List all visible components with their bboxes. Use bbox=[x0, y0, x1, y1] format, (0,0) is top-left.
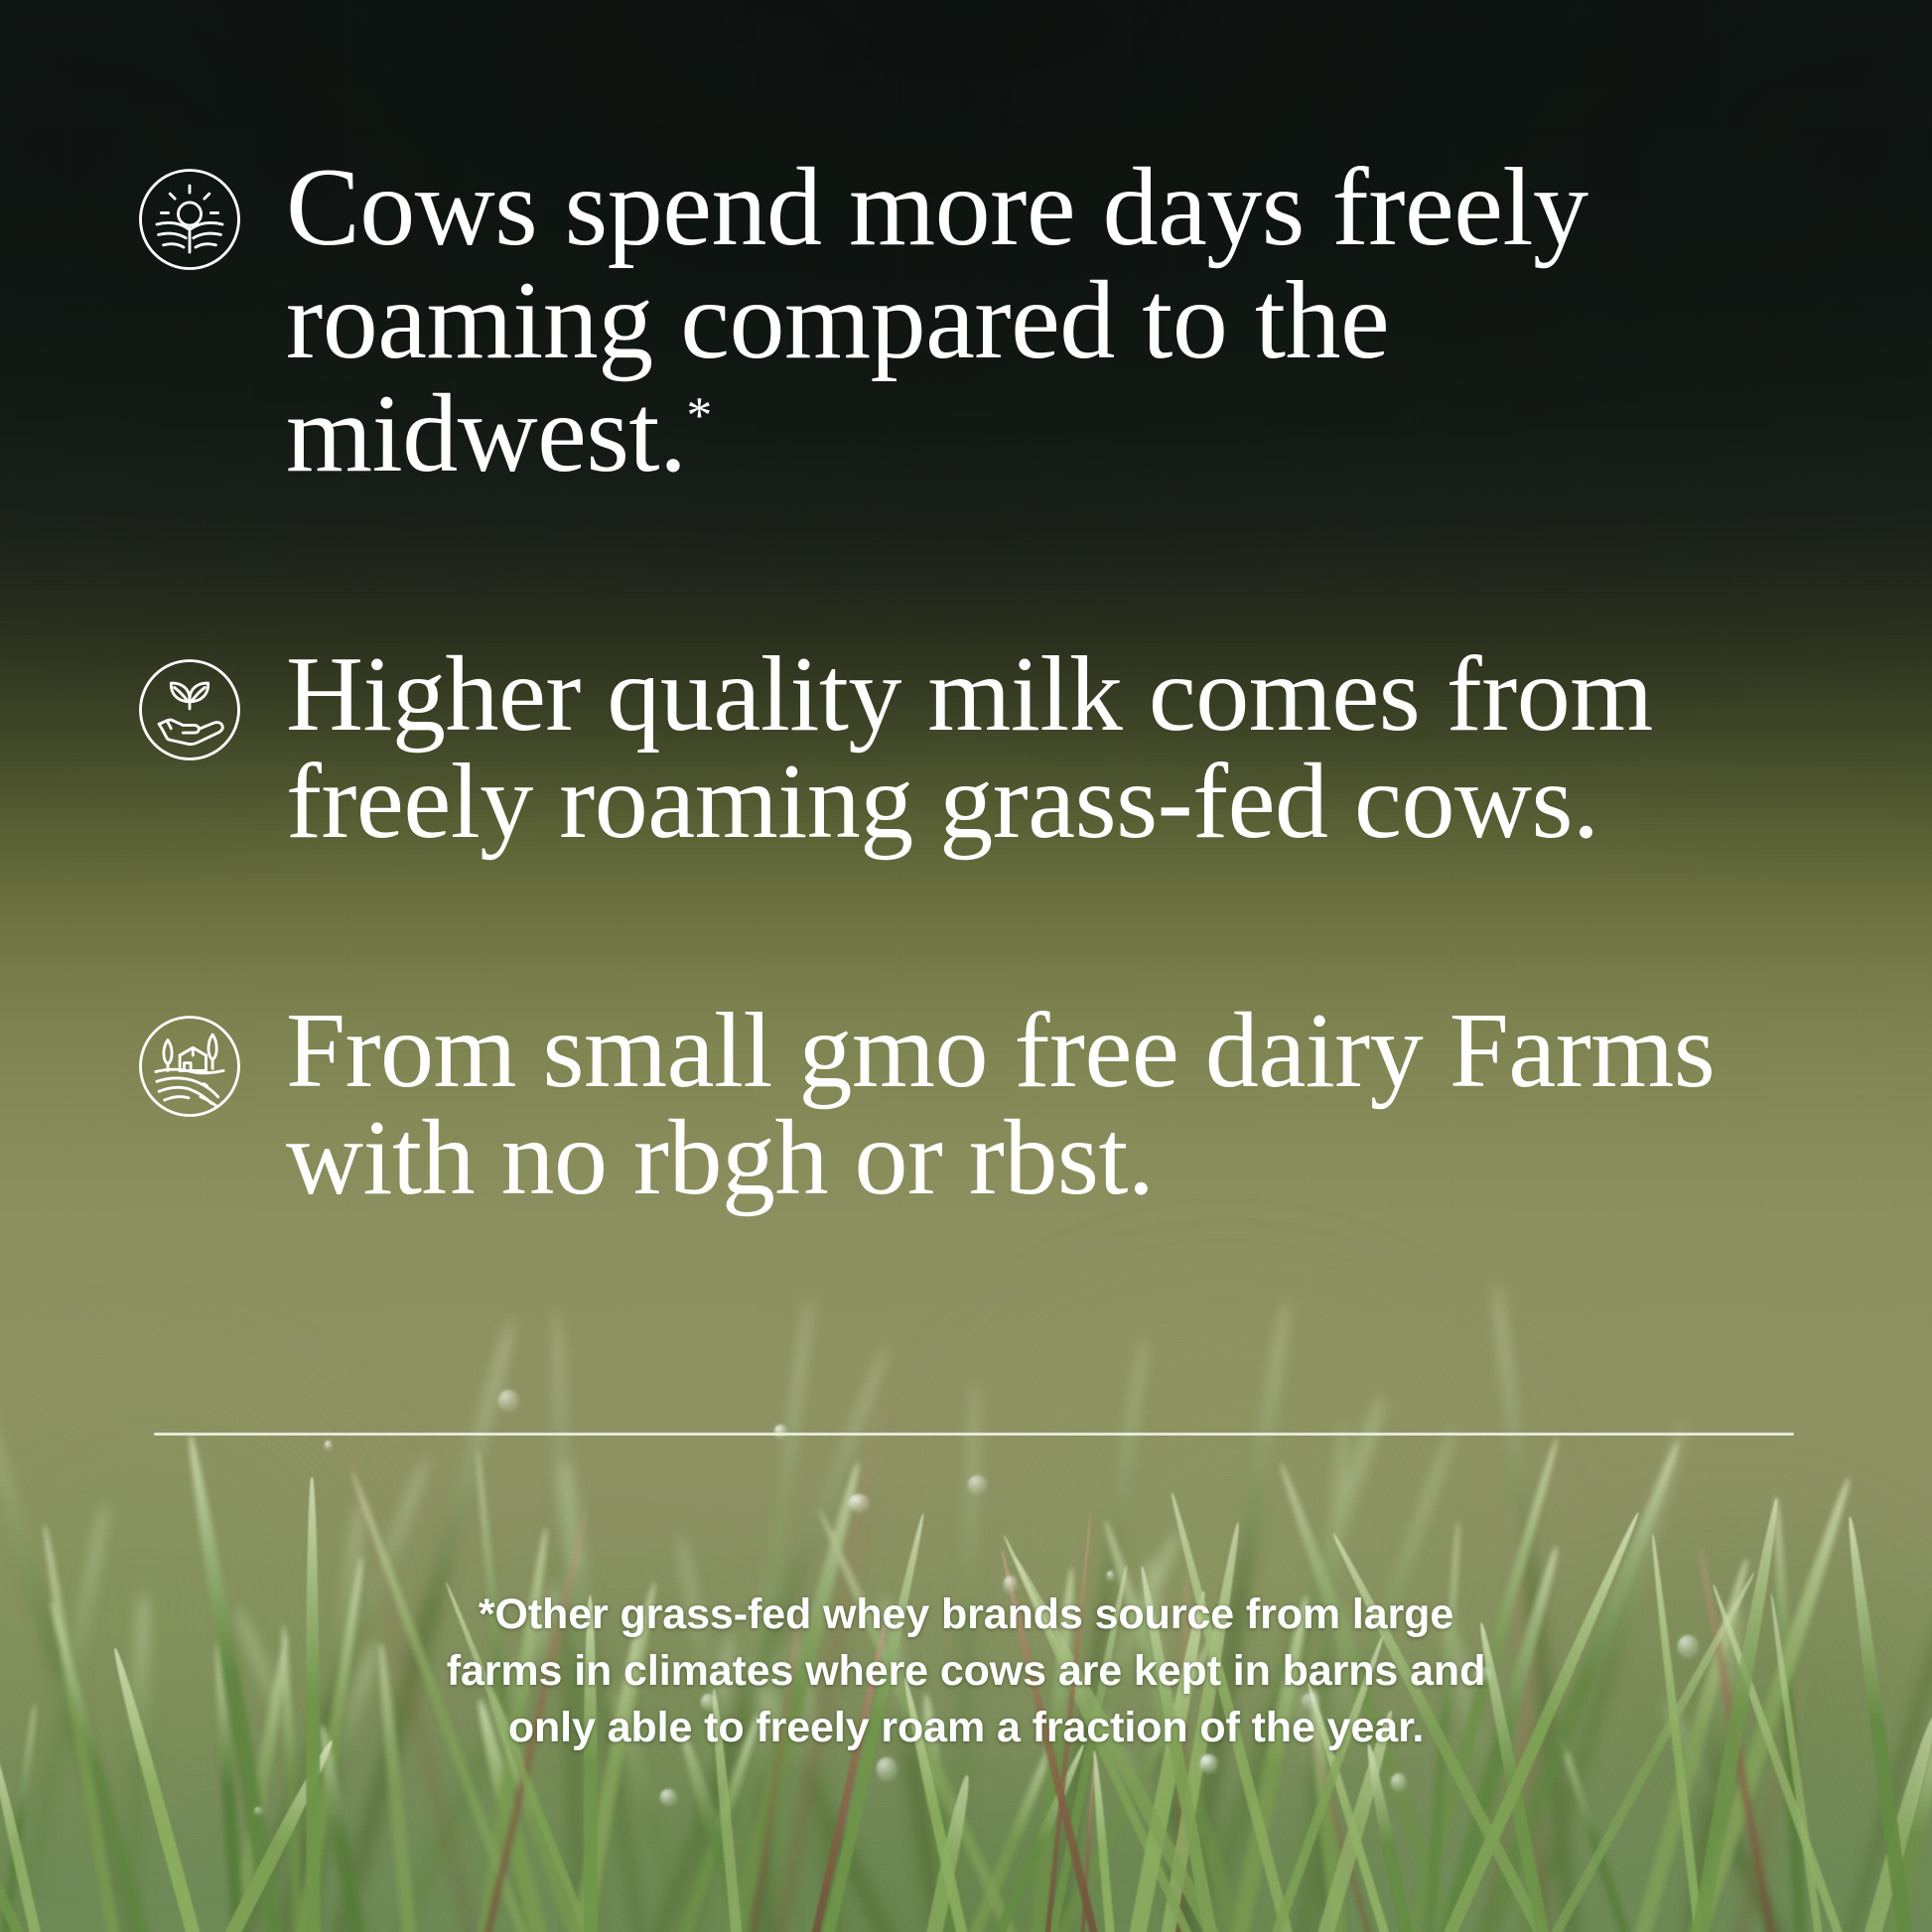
benefit-text-3: From small gmo free dairy Farms with no … bbox=[286, 998, 1755, 1212]
horizontal-divider bbox=[154, 1433, 1794, 1436]
content-area: Cows spend more days freely roaming comp… bbox=[0, 0, 1932, 1932]
promo-graphic: Cows spend more days freely roaming comp… bbox=[0, 0, 1932, 1932]
footnote-marker-1: * bbox=[687, 388, 713, 445]
footnote-line-3: only able to freely roam a fraction of t… bbox=[0, 1700, 1932, 1756]
benefit-label-1: Cows spend more days freely roaming comp… bbox=[286, 146, 1588, 495]
footnote-block: *Other grass-fed whey brands source from… bbox=[0, 1587, 1932, 1757]
benefit-item-2: Higher quality milk comes from freely ro… bbox=[135, 641, 1902, 856]
barn-farm-field-icon bbox=[135, 1012, 244, 1121]
hand-holding-sprout-icon bbox=[135, 655, 244, 764]
footnote-line-2: farms in climates where cows are kept in… bbox=[0, 1643, 1932, 1700]
benefit-text-1: Cows spend more days freely roaming comp… bbox=[286, 151, 1696, 491]
footnote-line-1: *Other grass-fed whey brands source from… bbox=[0, 1587, 1932, 1643]
benefit-text-2: Higher quality milk comes from freely ro… bbox=[286, 641, 1902, 856]
sunrise-field-icon bbox=[135, 165, 244, 274]
benefit-item-3: From small gmo free dairy Farms with no … bbox=[135, 998, 1902, 1212]
benefit-item-1: Cows spend more days freely roaming comp… bbox=[135, 151, 1823, 491]
